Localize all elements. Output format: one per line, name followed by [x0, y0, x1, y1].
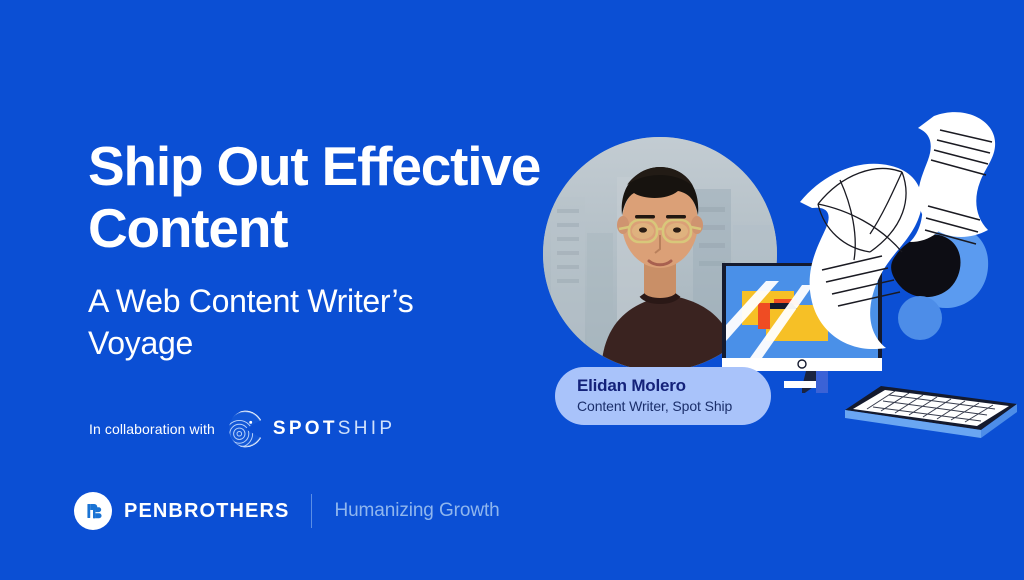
promo-banner: Ship Out Effective Content A Web Content…: [0, 0, 1024, 580]
spotship-word-ship: SHIP: [338, 418, 396, 440]
spotship-word-spot: SPOT: [273, 418, 338, 440]
collaboration-row: In collaboration with: [89, 410, 395, 448]
spotship-radar-circle-icon: [226, 410, 264, 448]
footer-tagline: Humanizing Growth: [334, 500, 499, 522]
illustration-area: Elidan Molero Content Writer, Spot Ship: [520, 0, 1024, 580]
page-subtitle: A Web Content Writer’s Voyage: [88, 281, 558, 364]
penbrothers-pb-monogram-icon: [74, 492, 112, 530]
speaker-badge: Elidan Molero Content Writer, Spot Ship: [555, 367, 771, 425]
speaker-name: Elidan Molero: [577, 375, 751, 396]
page-title: Ship Out Effective Content: [88, 136, 558, 259]
footer-branding: PENBROTHERS Humanizing Growth: [74, 492, 500, 530]
text-column: Ship Out Effective Content A Web Content…: [88, 136, 558, 364]
spotship-wordmark: SPOTSHIP: [273, 418, 395, 440]
footer-divider: [311, 494, 312, 528]
speaker-role: Content Writer, Spot Ship: [577, 397, 751, 415]
spotship-logo: SPOTSHIP: [226, 410, 395, 448]
collaboration-label: In collaboration with: [89, 421, 215, 437]
keyboard-icon: [845, 382, 1017, 444]
paper-scroll-icon: [778, 110, 1024, 360]
penbrothers-wordmark: PENBROTHERS: [124, 500, 289, 523]
